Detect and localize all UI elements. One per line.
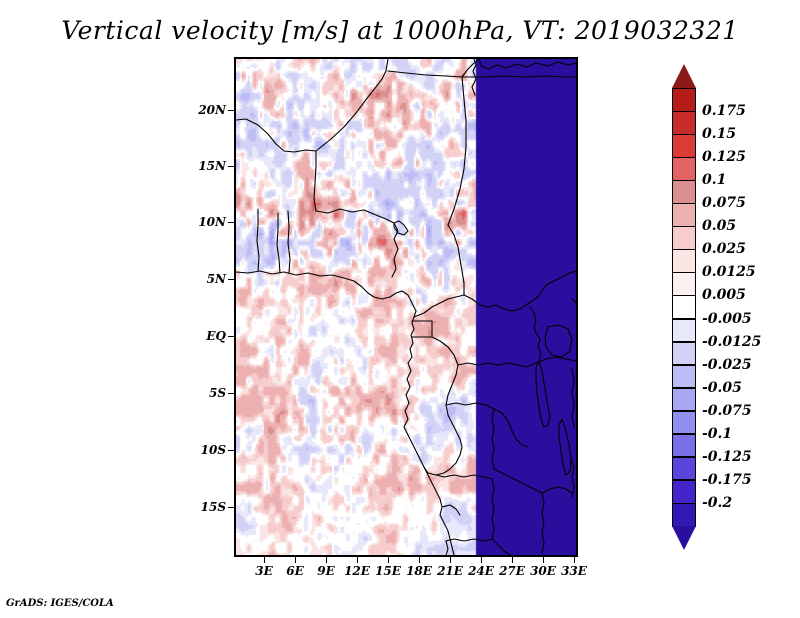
axis-label-lon-3E: 3E [255,564,273,578]
axis-label-lat-15S: 15S [192,500,226,514]
tick-lon-27E [512,557,513,563]
attribution-footer: GrADS: IGES/COLA [6,598,114,609]
colorbar-band-5 [672,203,696,227]
tick-lon-21E [450,557,451,563]
colorbar-label-12: -0.05 [702,380,742,396]
tick-lat-20N [228,110,234,111]
axis-label-lat-5N: 5N [196,272,226,286]
tick-lon-6E [295,557,296,563]
axis-label-lat-EQ: EQ [196,329,226,343]
axis-label-lat-10N: 10N [196,215,226,229]
axis-label-lon-33E: 33E [561,564,587,578]
colorbar-arrow-top [672,64,696,88]
colorbar-band-16 [672,457,696,481]
colorbar-band-11 [672,342,696,366]
axis-label-lon-30E: 30E [530,564,556,578]
tick-lon-15E [388,557,389,563]
tick-lon-3E [264,557,265,563]
colorbar-band-10 [672,319,696,343]
colorbar-label-17: -0.2 [702,495,732,511]
colorbar-label-5: 0.05 [702,218,736,234]
colorbar-label-8: 0.005 [702,287,746,303]
tick-lon-30E [543,557,544,563]
tick-lat-10S [228,450,234,451]
tick-lon-18E [419,557,420,563]
map-plot-area [234,57,578,557]
tick-lon-24E [481,557,482,563]
colorbar-band-12 [672,365,696,389]
tick-lat-5N [228,279,234,280]
tick-lon-12E [357,557,358,563]
colorbar-band-18 [672,503,696,527]
colorbar-band-1 [672,111,696,135]
colorbar-band-6 [672,226,696,250]
axis-label-lon-12E: 12E [344,564,370,578]
axis-label-lon-18E: 18E [406,564,432,578]
colorbar-label-10: -0.0125 [702,334,761,350]
axis-label-lon-24E: 24E [468,564,494,578]
tick-lat-15N [228,166,234,167]
axis-label-lat-10S: 10S [192,443,226,457]
colorbar-arrow-bottom [672,526,696,550]
axis-label-lon-6E: 6E [286,564,304,578]
axis-label-lon-9E: 9E [317,564,335,578]
colorbar-label-9: -0.005 [702,311,752,327]
colorbar-band-2 [672,134,696,158]
colorbar-label-16: -0.175 [702,472,752,488]
tick-lat-15S [228,507,234,508]
axis-label-lon-27E: 27E [499,564,525,578]
colorbar [672,64,696,550]
tick-lon-33E [574,557,575,563]
colorbar-label-1: 0.15 [702,126,736,142]
colorbar-band-8 [672,272,696,296]
colorbar-label-4: 0.075 [702,195,746,211]
colorbar-band-14 [672,411,696,435]
page-title: Vertical velocity [m/s] at 1000hPa, VT: … [0,16,800,45]
tick-lon-9E [326,557,327,563]
tick-lat-10N [228,222,234,223]
axis-label-lon-15E: 15E [375,564,401,578]
axis-label-lat-20N: 20N [196,103,226,117]
tick-lat-EQ [228,336,234,337]
colorbar-label-6: 0.025 [702,241,746,257]
colorbar-band-15 [672,434,696,458]
colorbar-band-9 [672,295,696,319]
country-borders-overlay [236,59,576,555]
colorbar-band-7 [672,249,696,273]
colorbar-label-7: 0.0125 [702,264,756,280]
tick-lat-5S [228,393,234,394]
axis-label-lat-15N: 15N [196,159,226,173]
colorbar-band-13 [672,388,696,412]
colorbar-label-15: -0.125 [702,449,752,465]
grads-plot-page: Vertical velocity [m/s] at 1000hPa, VT: … [0,0,800,618]
colorbar-label-3: 0.1 [702,172,726,188]
axis-label-lat-5S: 5S [196,386,226,400]
colorbar-label-13: -0.075 [702,403,752,419]
colorbar-band-0 [672,88,696,112]
axis-label-lon-21E: 21E [437,564,463,578]
colorbar-band-17 [672,480,696,504]
colorbar-label-2: 0.125 [702,149,746,165]
colorbar-band-3 [672,157,696,181]
colorbar-label-0: 0.175 [702,103,746,119]
colorbar-label-14: -0.1 [702,426,732,442]
colorbar-label-11: -0.025 [702,357,752,373]
colorbar-band-4 [672,180,696,204]
